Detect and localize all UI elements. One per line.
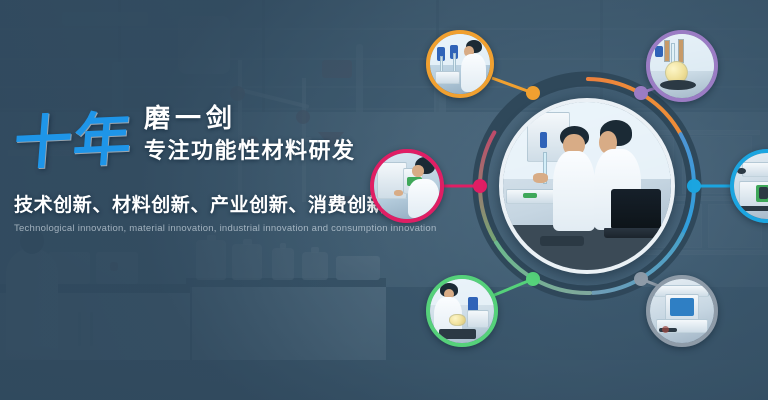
tagline-english: Technological innovation, material innov…: [14, 223, 364, 234]
node-bottom-left[interactable]: [426, 275, 498, 347]
headline-line-1: 磨一剑: [144, 103, 356, 134]
node-top-right[interactable]: [646, 30, 718, 102]
node-bottom-right-image: [650, 279, 714, 343]
circle-cluster: [404, 30, 768, 380]
node-top-left[interactable]: [426, 30, 494, 98]
promo-banner: 十年 磨一剑 专注功能性材料研发 技术创新、材料创新、产业创新、消费创新 Tec…: [0, 0, 768, 400]
headline-block: 十年 磨一剑 专注功能性材料研发 技术创新、材料创新、产业创新、消费创新 Tec…: [14, 103, 364, 234]
node-left-image: [374, 153, 440, 219]
node-left[interactable]: [370, 149, 444, 223]
center-photo[interactable]: [499, 98, 675, 274]
tagline-chinese: 技术创新、材料创新、产业创新、消费创新: [14, 190, 364, 217]
calligraphy-title: 十年: [12, 112, 143, 171]
center-photo-image: [503, 102, 671, 270]
node-right[interactable]: [730, 149, 768, 223]
node-top-right-image: [650, 34, 714, 98]
node-right-image: [734, 153, 768, 219]
node-bottom-left-image: [430, 279, 494, 343]
headline-line-2: 专注功能性材料研发: [144, 137, 356, 166]
node-bottom-right[interactable]: [646, 275, 718, 347]
node-top-left-image: [430, 34, 490, 94]
